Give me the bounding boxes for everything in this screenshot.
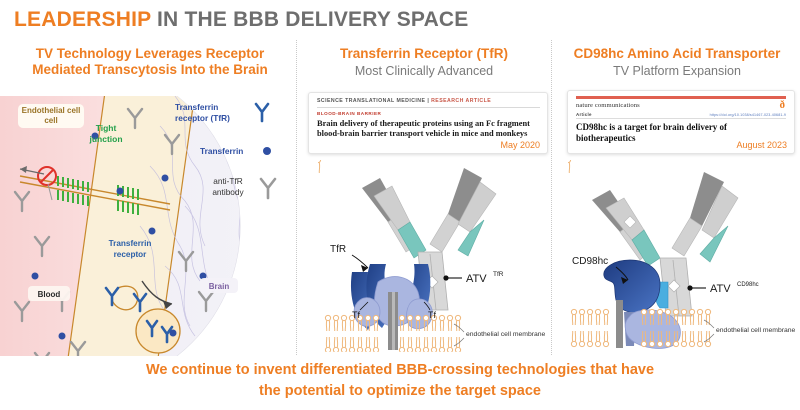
slide-caption-line2: the potential to optimize the target spa… bbox=[0, 381, 800, 402]
atv-cd98hc-svg: ATV CD98hc CD98hc endothelial cell membr… bbox=[568, 160, 800, 352]
column-header-right-title: CD98hc Amino Acid Transporter bbox=[556, 46, 798, 62]
label-endothelial-cell-line2: cell bbox=[44, 116, 57, 125]
journal-title-text: SCIENCE TRANSLATIONAL MEDICINE bbox=[317, 98, 425, 104]
journal-article-type: RESEARCH ARTICLE bbox=[431, 98, 491, 104]
column-header-right-sub: TV Platform Expansion bbox=[556, 63, 798, 79]
transcytosis-svg: Endothelial cell cell Tight junction Tra… bbox=[0, 96, 300, 356]
legend-item-tfr-line1: Transferrin bbox=[175, 102, 218, 112]
journal-card-right[interactable]: nature communications ð Article https://… bbox=[567, 90, 795, 154]
column-header-left: TV Technology Leverages Receptor Mediate… bbox=[6, 46, 294, 78]
legend-item-tfr-line2: receptor (TfR) bbox=[175, 113, 230, 123]
journal-name-right: nature communications bbox=[576, 102, 786, 109]
illustration-left: Endothelial cell cell Tight junction Tra… bbox=[0, 96, 300, 356]
column-header-left-line2: Mediated Transcytosis Into the Brain bbox=[6, 62, 294, 78]
legend-transferrin-dot-icon bbox=[263, 147, 271, 155]
journal-doi: https://doi.org/10.1038/s41467-023-40681… bbox=[710, 113, 786, 117]
atv-tfr-svg: ATV TfR TfR Tf Tf endothelial cell membr… bbox=[318, 160, 550, 352]
legend-item-antibody-line1: anti-TfR bbox=[213, 176, 243, 186]
label-endothelial-cell-line1: Endothelial cell bbox=[22, 106, 81, 115]
open-access-icon: ð bbox=[780, 99, 786, 111]
journal-kicker-middle: BLOOD-BRAIN BARRIER bbox=[317, 111, 540, 116]
column-header-right: CD98hc Amino Acid Transporter TV Platfor… bbox=[556, 46, 798, 79]
atv-leader-dot bbox=[443, 275, 448, 280]
journal-card-middle[interactable]: SCIENCE TRANSLATIONAL MEDICINE | RESEARC… bbox=[308, 92, 548, 154]
legend-tfr-icon bbox=[256, 104, 268, 121]
fc-stem-right bbox=[656, 258, 693, 316]
label-tfr-middle: TfR bbox=[330, 244, 346, 255]
label-brain: Brain bbox=[209, 282, 230, 291]
journal-date-right: August 2023 bbox=[736, 140, 787, 150]
journal-rule-middle bbox=[317, 107, 540, 108]
label-tight-junction-line2: junction bbox=[88, 134, 122, 144]
illustration-middle: ATV TfR TfR Tf Tf endothelial cell membr… bbox=[318, 160, 550, 352]
slide-root: LEADERSHIP IN THE BBB DELIVERY SPACE TV … bbox=[0, 0, 800, 410]
column-header-left-line1: TV Technology Leverages Receptor bbox=[6, 46, 294, 62]
column-header-middle-sub: Most Clinically Advanced bbox=[300, 63, 548, 79]
label-cd98hc: CD98hc bbox=[572, 256, 608, 267]
label-atv-right: ATV bbox=[710, 283, 731, 295]
column-divider-2 bbox=[551, 40, 552, 355]
column-header-middle-title: Transferrin Receptor (TfR) bbox=[300, 46, 548, 62]
column-header-middle: Transferrin Receptor (TfR) Most Clinical… bbox=[300, 46, 548, 79]
atv-leader-dot-right bbox=[687, 285, 692, 290]
slide-caption-line1: We continue to invent differentiated BBB… bbox=[0, 360, 800, 381]
page-title: LEADERSHIP IN THE BBB DELIVERY SPACE bbox=[14, 8, 469, 32]
label-tight-junction-line1: Tight bbox=[96, 123, 117, 133]
journal-article-label: Article bbox=[576, 112, 592, 117]
label-atv-superscript-middle: TfR bbox=[493, 271, 504, 278]
label-atv-superscript-right: CD98hc bbox=[737, 282, 759, 288]
journal-article-title-middle: Brain delivery of therapeutic proteins u… bbox=[317, 119, 540, 139]
label-blood: Blood bbox=[38, 290, 61, 299]
label-tf-right: Tf bbox=[428, 310, 436, 320]
label-tf-left: Tf bbox=[352, 310, 360, 320]
label-membrane-middle: endothelial cell membrane bbox=[466, 331, 546, 338]
journal-name-middle: SCIENCE TRANSLATIONAL MEDICINE | RESEARC… bbox=[317, 98, 540, 104]
label-membrane-right: endothelial cell membrane bbox=[716, 327, 796, 334]
label-transferrin-receptor-line2: receptor bbox=[114, 250, 148, 259]
slide-caption: We continue to invent differentiated BBB… bbox=[0, 360, 800, 402]
label-atv-middle: ATV bbox=[466, 273, 487, 285]
legend-item-antibody-line2: antibody bbox=[212, 187, 244, 197]
legend-antibody-icon bbox=[261, 179, 275, 198]
illustration-right: ATV CD98hc CD98hc endothelial cell membr… bbox=[568, 160, 800, 352]
journal-subrow-right: Article https://doi.org/10.1038/s41467-0… bbox=[576, 112, 786, 119]
antibody-arms bbox=[362, 168, 496, 258]
antibody-arms-right bbox=[592, 172, 738, 266]
page-title-rest: IN THE BBB DELIVERY SPACE bbox=[151, 8, 469, 31]
label-transferrin-receptor-line1: Transferrin bbox=[109, 239, 152, 248]
nature-top-bar bbox=[576, 96, 786, 99]
legend-item-transferrin: Transferrin bbox=[200, 146, 243, 156]
page-title-highlight: LEADERSHIP bbox=[14, 8, 151, 31]
journal-date-middle: May 2020 bbox=[500, 140, 540, 150]
